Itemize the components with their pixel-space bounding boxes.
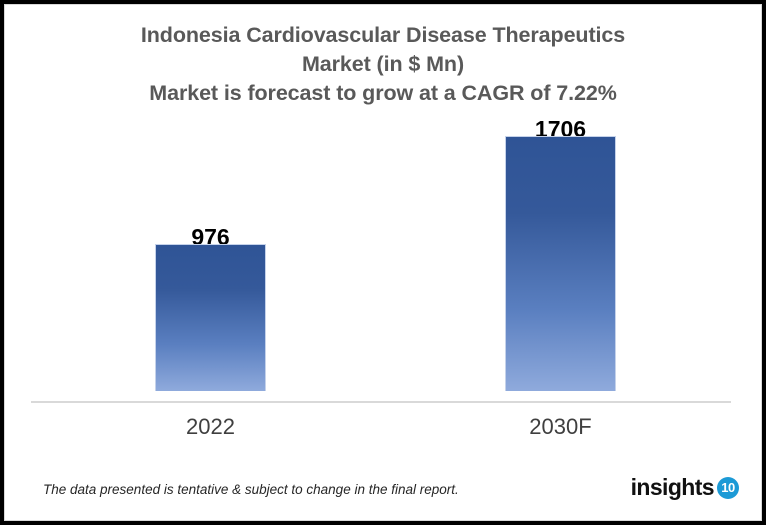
category-label-2022: 2022: [155, 414, 266, 440]
plot-area: 976 2022 1706 2030F: [5, 5, 761, 520]
brand-badge-icon: 10: [717, 477, 739, 499]
chart-canvas: Indonesia Cardiovascular Disease Therape…: [4, 4, 762, 521]
category-label-2030f: 2030F: [505, 414, 616, 440]
brand-logo: insights 10: [631, 475, 739, 500]
bar-group-2022: 976 2022: [155, 5, 266, 520]
brand-wordmark: insights: [631, 475, 714, 500]
chart-frame: Indonesia Cardiovascular Disease Therape…: [0, 0, 766, 525]
x-axis-line: [31, 401, 731, 403]
disclaimer-note: The data presented is tentative & subjec…: [43, 481, 459, 499]
bar-group-2030f: 1706 2030F: [505, 5, 616, 520]
bar-2022[interactable]: [155, 244, 266, 391]
bar-2030f[interactable]: [505, 136, 616, 391]
